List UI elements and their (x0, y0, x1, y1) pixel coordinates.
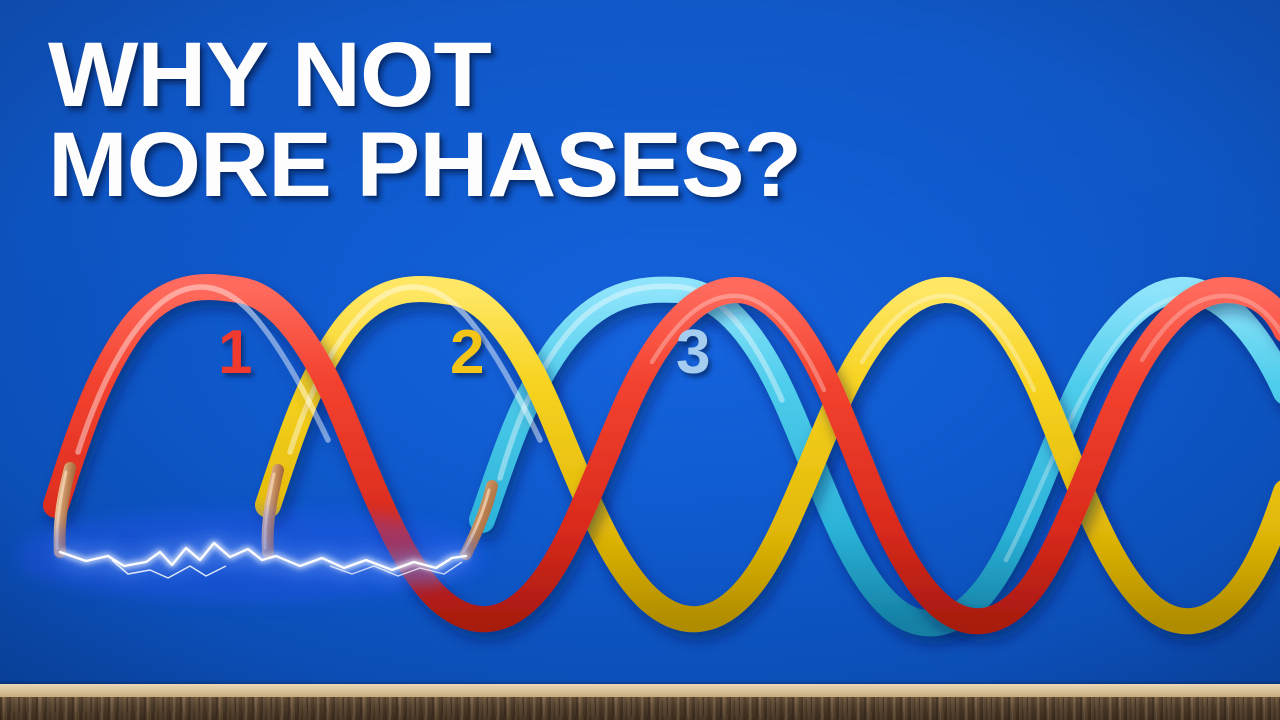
wood-shelf (0, 684, 1280, 720)
wood-shelf-grain (0, 697, 1280, 720)
wood-shelf-lip (0, 684, 1280, 697)
phase-label-3: 3 (676, 322, 710, 384)
phase-label-2: 2 (450, 322, 484, 384)
thumbnail-canvas: 1 2 3 WHY NOT MORE PHASES? (0, 0, 1280, 720)
electric-arc (20, 516, 480, 596)
phase-label-1: 1 (218, 322, 252, 384)
page-title: WHY NOT MORE PHASES? (48, 30, 1067, 210)
